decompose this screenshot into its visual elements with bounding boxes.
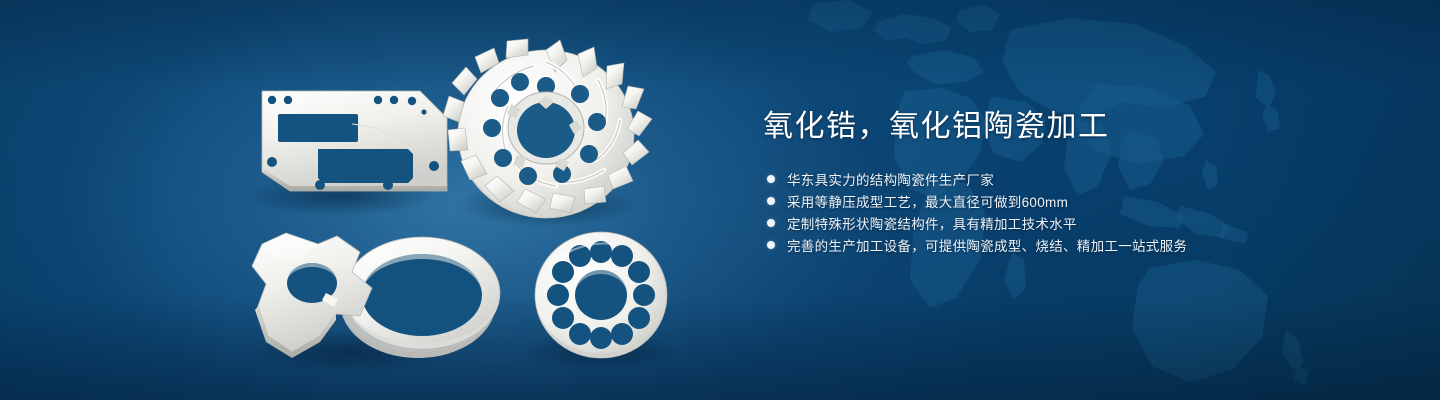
feature-text-2: 采用等静压成型工艺，最大直径可做到600mm <box>787 191 1068 211</box>
bullet-dot-icon <box>767 197 775 205</box>
feature-item-4: 完善的生产加工设备，可提供陶瓷成型、烧结、精加工一站式服务 <box>767 234 1383 256</box>
product-montage-illustration <box>0 0 720 400</box>
feature-item-1: 华东具实力的结构陶瓷件生产厂家 <box>767 168 1383 190</box>
bullet-dot-icon <box>767 175 775 183</box>
feature-item-2: 采用等静压成型工艺，最大直径可做到600mm <box>767 190 1383 212</box>
banner-headline: 氧化锆，氧化铝陶瓷加工 <box>763 108 1383 146</box>
feature-text-4: 完善的生产加工设备，可提供陶瓷成型、烧结、精加工一站式服务 <box>787 235 1187 255</box>
feature-text-3: 定制特殊形状陶瓷结构件，具有精加工技术水平 <box>787 213 1077 233</box>
bullet-dot-icon <box>767 219 775 227</box>
ceramic-machined-plate <box>262 91 447 191</box>
feature-item-3: 定制特殊形状陶瓷结构件，具有精加工技术水平 <box>767 212 1383 234</box>
product-montage <box>0 0 720 400</box>
ceramic-perforated-disc <box>535 232 667 358</box>
hero-banner: 氧化锆，氧化铝陶瓷加工 华东具实力的结构陶瓷件生产厂家 采用等静压成型工艺，最大… <box>0 0 1440 400</box>
feature-text-1: 华东具实力的结构陶瓷件生产厂家 <box>787 169 994 189</box>
bullet-dot-icon <box>767 241 775 249</box>
banner-copy: 氧化锆，氧化铝陶瓷加工 华东具实力的结构陶瓷件生产厂家 采用等静压成型工艺，最大… <box>763 108 1383 256</box>
feature-list: 华东具实力的结构陶瓷件生产厂家 采用等静压成型工艺，最大直径可做到600mm 定… <box>767 168 1383 256</box>
